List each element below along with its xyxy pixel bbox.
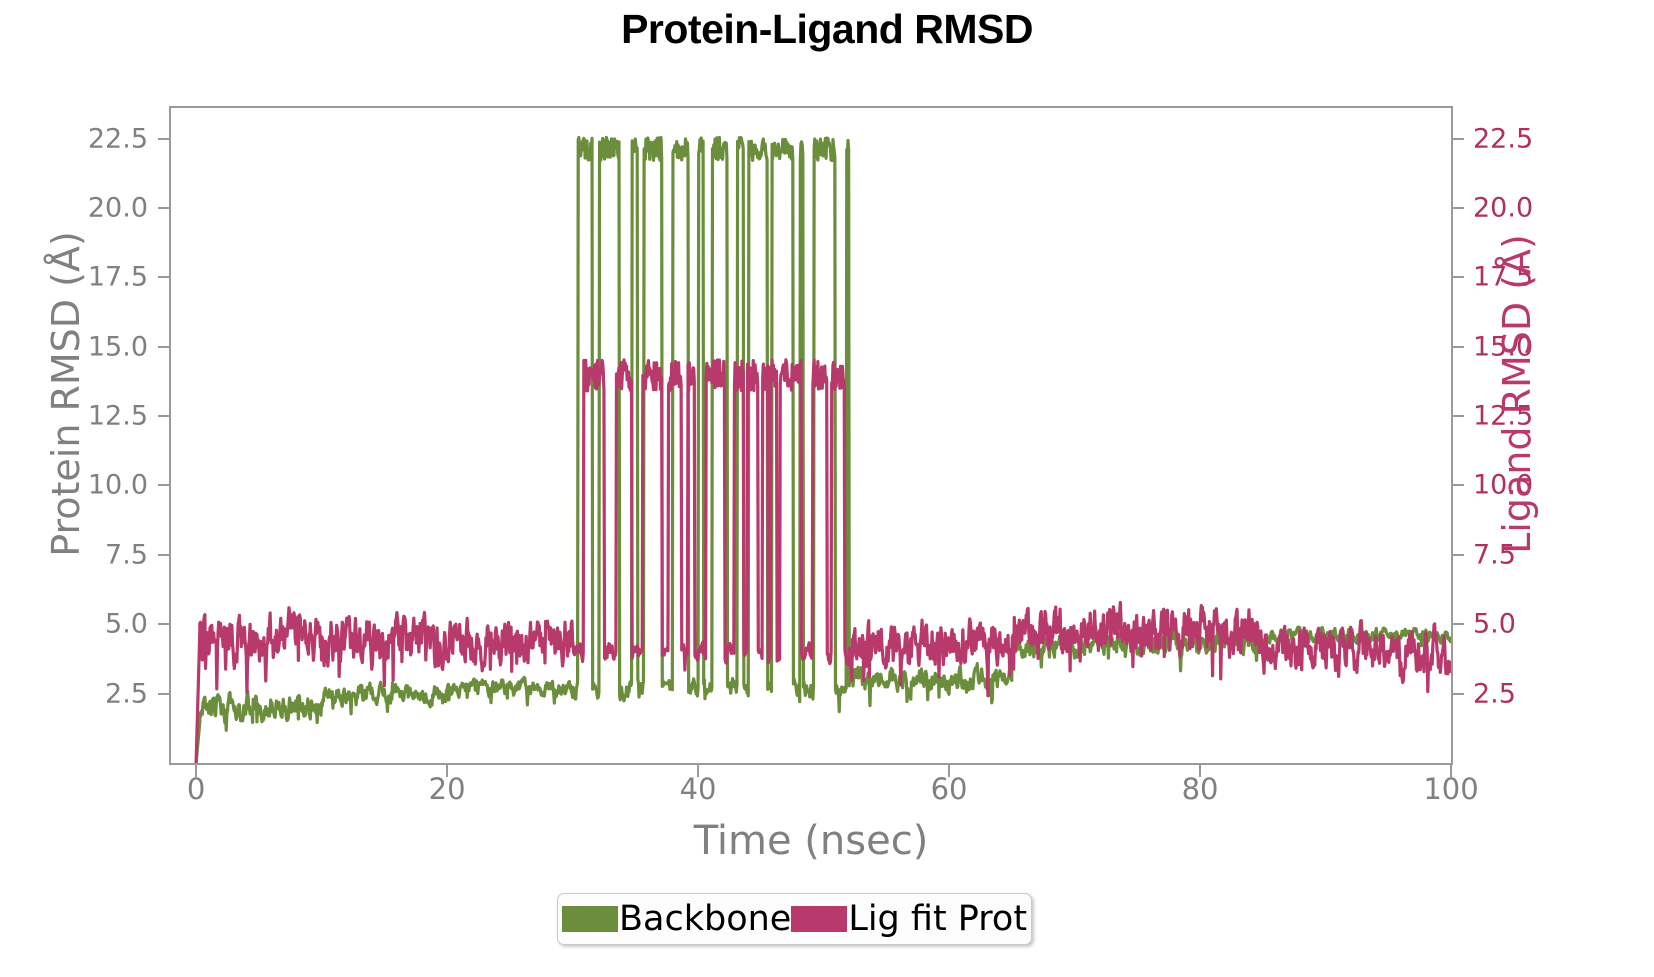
y-axis-left-tick-mark: [158, 207, 169, 209]
y-axis-left-tick-mark: [158, 138, 169, 140]
y-axis-left-tick-mark: [158, 693, 169, 695]
y-axis-left-label: Protein RMSD (Å): [44, 84, 88, 704]
x-axis-tick-mark: [697, 765, 699, 777]
legend-label-backbone: Backbone: [618, 902, 791, 937]
y-axis-left-tick-mark: [158, 346, 169, 348]
chart-title: Protein-Ligand RMSD: [0, 6, 1654, 53]
y-axis-right-tick-mark: [1453, 346, 1464, 348]
plot-curves: [171, 108, 1451, 763]
x-axis-tick-mark: [1199, 765, 1201, 777]
x-axis-tick-label: 100: [1391, 772, 1511, 806]
y-axis-right-tick-mark: [1453, 693, 1464, 695]
legend-entry-backbone[interactable]: Backbone: [562, 902, 791, 937]
x-axis-tick-mark: [1450, 765, 1452, 777]
x-axis-tick-label: 80: [1140, 772, 1260, 806]
y-axis-left-tick-mark: [158, 276, 169, 278]
y-axis-left-tick-mark: [158, 623, 169, 625]
x-axis-tick-mark: [195, 765, 197, 777]
y-axis-left-tick-mark: [158, 554, 169, 556]
series-path-lig-fit-prot: [196, 360, 1451, 763]
legend-swatch-lig-fit-prot: [791, 906, 847, 932]
x-axis-tick-label: 20: [387, 772, 507, 806]
x-axis-tick-label: 60: [889, 772, 1009, 806]
legend-label-lig-fit-prot: Lig fit Prot: [847, 902, 1027, 937]
y-axis-right-tick-mark: [1453, 415, 1464, 417]
legend-entry-lig-fit-prot[interactable]: Lig fit Prot: [791, 902, 1027, 937]
y-axis-right-tick-mark: [1453, 138, 1464, 140]
figure: Protein-Ligand RMSD 2.55.07.510.012.515.…: [0, 0, 1654, 977]
legend-swatch-backbone: [562, 906, 618, 932]
x-axis-label: Time (nsec): [169, 818, 1453, 864]
x-axis-tick-mark: [948, 765, 950, 777]
y-axis-right-tick-mark: [1453, 554, 1464, 556]
y-axis-right-tick-mark: [1453, 484, 1464, 486]
y-axis-left-tick-mark: [158, 415, 169, 417]
y-axis-right-tick-mark: [1453, 623, 1464, 625]
y-axis-right-tick-mark: [1453, 276, 1464, 278]
x-axis-tick-label: 0: [136, 772, 256, 806]
y-axis-left-tick-mark: [158, 484, 169, 486]
x-axis-tick-label: 40: [638, 772, 758, 806]
y-axis-right-label: Ligand RMSD (Å): [1495, 84, 1539, 704]
y-axis-right-tick-mark: [1453, 207, 1464, 209]
x-axis-tick-mark: [446, 765, 448, 777]
legend[interactable]: Backbone Lig fit Prot: [557, 893, 1032, 945]
rmsd-traces-svg: [171, 108, 1451, 763]
